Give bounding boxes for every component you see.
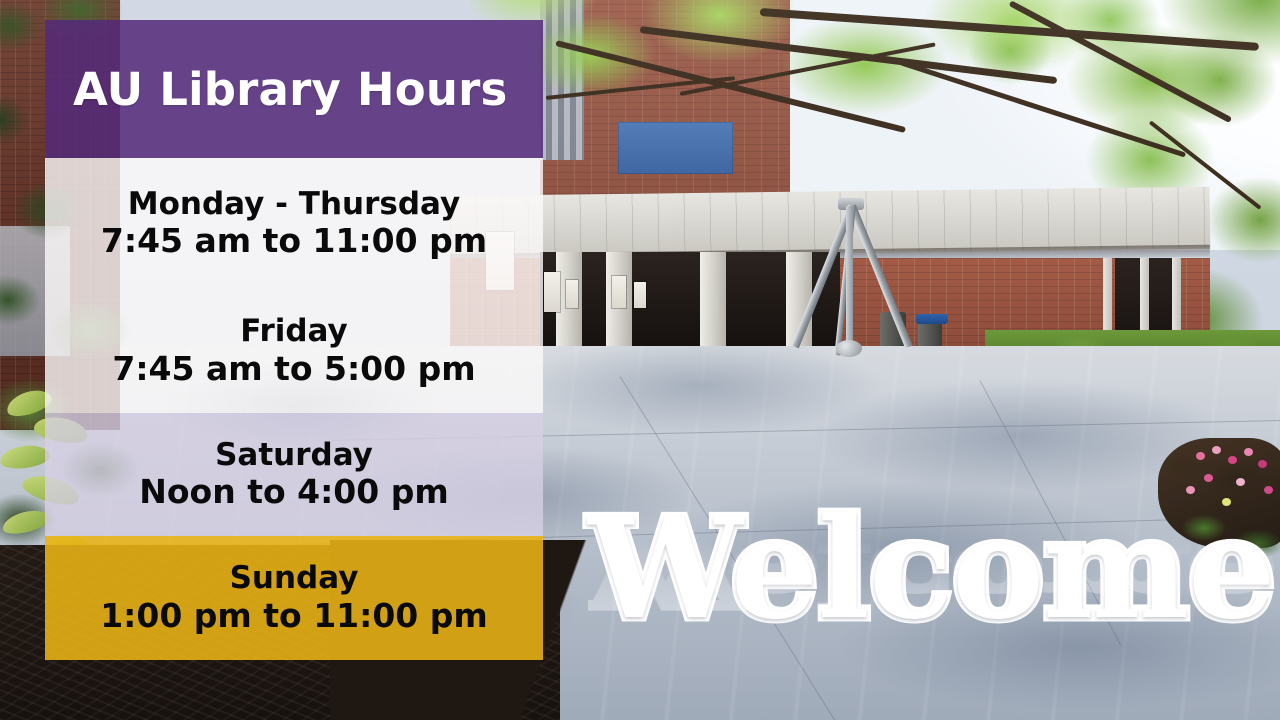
hours-row-friday: Friday 7:45 am to 5:00 pm <box>45 289 543 413</box>
page-title: AU Library Hours <box>45 63 508 116</box>
hours-row-saturday: Saturday Noon to 4:00 pm <box>45 413 543 537</box>
hours-row-monday-thursday: Monday - Thursday 7:45 am to 11:00 pm <box>45 158 543 289</box>
hours-day-label: Friday <box>240 314 347 349</box>
hours-day-label: Saturday <box>215 438 373 473</box>
hours-time-value: Noon to 4:00 pm <box>139 474 448 511</box>
poster-board <box>612 276 626 308</box>
welcome-overlay: Welcome! Welcome! <box>588 500 1228 715</box>
slide-canvas: Welcome! Welcome! AU Library Hours Monda… <box>0 0 1280 720</box>
hours-row-sunday: Sunday 1:00 pm to 11:00 pm <box>45 536 543 660</box>
pendulum-rod <box>846 206 853 346</box>
hours-day-label: Sunday <box>230 561 359 596</box>
hours-day-label: Monday - Thursday <box>128 187 460 222</box>
recycle-bin-lid <box>916 314 948 324</box>
pillar <box>700 252 726 352</box>
poster-board <box>566 280 578 308</box>
flower-bloom <box>1212 446 1221 454</box>
panel-header: AU Library Hours <box>45 20 543 158</box>
hours-time-value: 7:45 am to 11:00 pm <box>101 223 487 260</box>
flower-bloom <box>1244 448 1253 456</box>
poster-board <box>544 272 560 312</box>
flower-bloom <box>1228 456 1237 464</box>
welcome-reflection: Welcome! <box>588 532 1280 618</box>
hours-rows: Monday - Thursday 7:45 am to 11:00 pm Fr… <box>45 158 543 660</box>
flower-bloom <box>1204 474 1213 482</box>
hours-time-value: 1:00 pm to 11:00 pm <box>100 598 488 635</box>
flower-bloom <box>1236 478 1245 486</box>
library-hours-panel: AU Library Hours Monday - Thursday 7:45 … <box>45 20 543 660</box>
poster-board <box>634 282 646 308</box>
hours-time-value: 7:45 am to 5:00 pm <box>112 351 475 388</box>
flower-bloom <box>1196 452 1205 460</box>
pendulum-bob <box>836 340 862 357</box>
flower-bloom <box>1258 460 1267 468</box>
